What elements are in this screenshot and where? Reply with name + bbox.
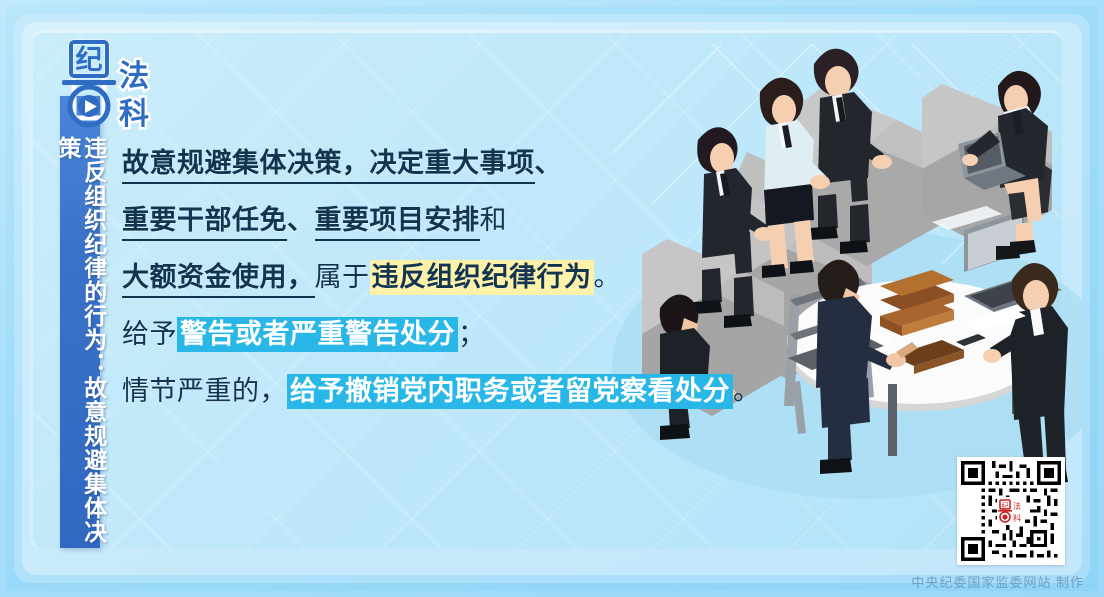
qr-code-pattern: 纪 法 科 [961,461,1061,561]
line1-part-1: 故意规避集体决策， [122,148,370,184]
brand-logo: 纪 法 科 [54,36,160,132]
line5-part-1: 情节严重的， [122,376,287,406]
line2-part-4: 和 [480,205,508,235]
line3-part-4: 。 [594,262,622,292]
text-line-5: 情节严重的，给予撤销党内职务或者留党察看处分。 [122,378,762,405]
line2-part-3: 重要项目安排 [315,205,480,241]
svg-text:科: 科 [1013,513,1021,523]
logo-char-ji: 纪 [76,44,103,75]
line5-highlight-cyan: 给予撤销党内职务或者留党察看处分 [287,374,733,409]
line1-part-3: 、 [535,148,563,178]
line3-highlight-yellow: 违反组织纪律行为 [370,260,594,295]
vertical-title-text: 违反组织纪律的行为：故意规避集体决策 [54,136,106,548]
footer-credit: 中央纪委国家监委网站 制作 [911,572,1084,591]
text-line-3: 大额资金使用，属于违反组织纪律行为。 [122,264,762,291]
line4-part-1: 给予 [122,319,177,349]
qr-code[interactable]: 纪 法 科 [957,457,1065,565]
line3-part-2: 属于 [315,262,370,292]
line4-highlight-cyan: 警告或者严重警告处分 [177,317,458,352]
logo-char-ke: 科 [119,98,149,131]
svg-text:纪: 纪 [1002,501,1009,510]
line4-part-3: ； [458,319,486,349]
line1-part-2: 决定重大事项 [370,148,535,184]
line2-part-2: 、 [287,205,315,235]
text-line-2: 重要干部任免、重要项目安排和 [122,207,762,234]
logo-char-fa: 法 [119,60,149,93]
main-text-block: 故意规避集体决策，决定重大事项、 重要干部任免、重要项目安排和 大额资金使用，属… [122,150,762,405]
line3-part-1: 大额资金使用， [122,262,315,298]
line2-part-1: 重要干部任免 [122,205,287,241]
svg-text:法: 法 [1013,501,1021,511]
poster-root: 纪 法 科 违反组织纪律的行为：故意规避集体决策 故意规避集体决策，决定重大事项… [0,0,1104,597]
vertical-title-banner: 违反组织纪律的行为：故意规避集体决策 [60,96,100,548]
text-line-1: 故意规避集体决策，决定重大事项、 [122,150,762,177]
line5-part-3: 。 [733,376,761,406]
text-line-4: 给予警告或者严重警告处分； [122,321,762,348]
qr-center-logo: 纪 法 科 [997,497,1025,525]
